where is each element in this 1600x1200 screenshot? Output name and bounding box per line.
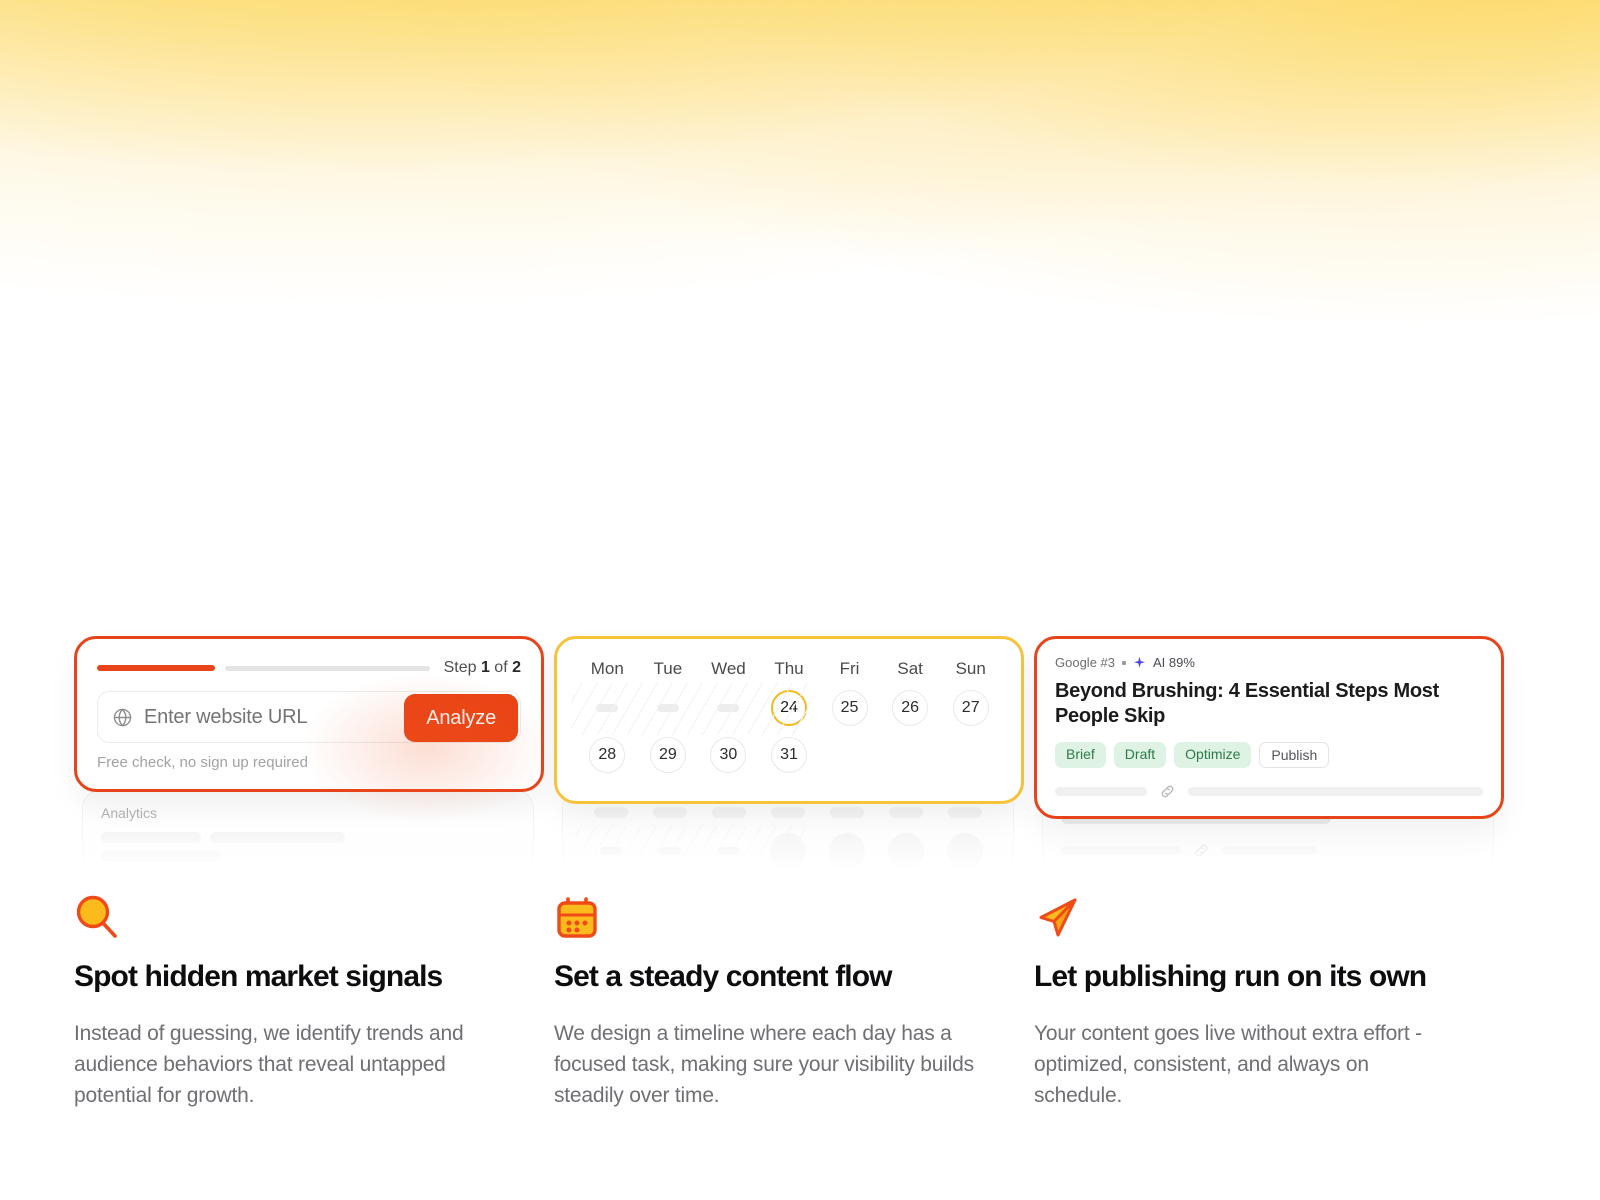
calendar-card: Mon Tue Wed Thu Fri Sat Sun 24 [554,636,1024,804]
headline-line-2: Ideas nto Impact [0,338,1600,445]
past-day-placeholder [717,704,739,712]
placeholder-pill [600,847,622,855]
link-icon [1159,783,1176,800]
placeholder-bar [889,807,923,818]
feature-title: Set a steady content flow [554,960,1024,994]
paper-plane-icon [1034,894,1080,940]
placeholder-bar [830,807,864,818]
weekday-label: Mon [591,659,624,679]
free-check-note: Free check, no sign up required [97,754,521,771]
calendar-day[interactable]: 30 [710,737,746,773]
calendar-day-today[interactable]: 24 [771,690,807,726]
brand-name: rank.ai [755,142,897,187]
progress-bar [97,665,430,671]
article-footer [1055,783,1483,800]
workflow-chips: Brief Draft Optimize Publish [1055,742,1483,768]
placeholder-circle [947,833,983,869]
placeholder-bar [1055,787,1147,796]
calendar-weekday-header: Mon Tue Wed Thu Fri Sat Sun [577,659,1001,679]
placeholder-bar [1061,846,1181,855]
placeholder-bar [210,832,345,843]
calendar-day[interactable]: 27 [953,690,989,726]
chip-optimize[interactable]: Optimize [1174,742,1251,768]
weekday-label: Sun [956,659,986,679]
search-input[interactable]: Enter website URL [144,706,307,729]
chip-draft[interactable]: Draft [1114,742,1166,768]
step-current: 1 [481,659,490,676]
past-day-placeholder [657,704,679,712]
feature-column-2: Mon Tue Wed Thu Fri Sat Sun 24 [554,636,1024,1111]
placeholder-bar [653,807,687,818]
card-stack-3: Google #3 AI 89% Beyond Brushing: 4 Esse… [1034,636,1504,876]
calendar-day[interactable]: 31 [771,737,807,773]
magnifier-icon [74,894,120,940]
sparkle-icon [1133,656,1146,669]
weekday-label: Fri [840,659,860,679]
headline-line-2-b: nto Impact [710,338,1220,445]
article-card: Google #3 AI 89% Beyond Brushing: 4 Esse… [1034,636,1504,819]
article-meta: Google #3 AI 89% [1055,655,1483,670]
feature-block-2: Set a steady content flow We design a ti… [554,876,1024,1111]
article-source: Google #3 [1055,655,1115,670]
placeholder-bar [101,851,221,862]
feature-title: Spot hidden market signals [74,960,544,994]
headline-line-2-a: Ideas [380,338,638,445]
placeholder-bar [1188,787,1483,796]
placeholder-pill [718,847,740,855]
placeholder-bar [1222,846,1317,855]
url-analyzer-card: Step 1 of 2 Enter website URL Analyze Fr… [74,636,544,792]
step-total: 2 [512,659,521,676]
analyze-button[interactable]: Analyze [404,694,518,742]
page-title: How We Turn Ideas nto Impact [0,231,1600,445]
calendar-day-empty [832,737,868,773]
headline-line-1-text: How We Turn [480,231,1120,338]
chip-brief[interactable]: Brief [1055,742,1106,768]
progress-row: Step 1 of 2 [97,659,521,677]
features-row: Analytics Step 1 of 2 [0,636,1600,1111]
bar-chart-glyph-icon [650,375,703,437]
calendar-week-1: 24 25 26 27 [577,689,1001,727]
feature-body: We design a timeline where each day has … [554,1018,974,1111]
subtitle-line-2: so your content works harder while you w… [488,523,1113,553]
calendar-day[interactable]: 25 [832,690,868,726]
placeholder-circle [770,833,806,869]
feature-body: Your content goes live without extra eff… [1034,1018,1454,1111]
step-indicator: Step 1 of 2 [444,659,521,677]
separator-dot-icon [1122,661,1126,665]
landing-page: rank.ai How We Turn Ideas nto Impact Fro… [0,0,1600,1200]
placeholder-bar [101,832,201,843]
calendar-day-empty [953,737,989,773]
rank-r-logo-icon [704,145,742,185]
headline-line-1: How We Turn [0,231,1600,338]
placeholder-bar [948,807,982,818]
placeholder-circle [829,833,865,869]
globe-icon [112,707,133,728]
step-prefix: Step [444,659,481,676]
past-day-placeholder [596,704,618,712]
calendar-icon [554,894,600,940]
placeholder-bar [712,807,746,818]
article-title: Beyond Brushing: 4 Essential Steps Most … [1055,679,1483,729]
brand-logo[interactable]: rank.ai [0,0,1600,187]
card-stack-1: Analytics Step 1 of 2 [74,636,544,876]
feature-block-3: Let publishing run on its own Your conte… [1034,876,1504,1111]
page-subtitle: From insights to execution, our system g… [0,480,1600,558]
subtitle-line-1: From insights to execution, our system g… [423,484,1177,514]
chip-publish[interactable]: Publish [1259,742,1329,768]
feature-body: Instead of guessing, we identify trends … [74,1018,494,1111]
feature-block-1: Spot hidden market signals Instead of gu… [74,876,544,1111]
placeholder-bar [594,807,628,818]
calendar-day[interactable]: 28 [589,737,625,773]
ghost-card-label: Analytics [101,805,515,821]
feature-column-3: Google #3 AI 89% Beyond Brushing: 4 Esse… [1034,636,1504,1111]
progress-track [225,666,430,671]
weekday-label: Sat [897,659,923,679]
link-icon [1193,842,1210,859]
ghost-card-analytics: Analytics [82,790,534,874]
weekday-label: Wed [711,659,746,679]
calendar-day[interactable]: 26 [892,690,928,726]
placeholder-pill [659,847,681,855]
calendar-week-2: 28 29 30 31 [577,736,1001,774]
placeholder-bar [771,807,805,818]
placeholder-circle [888,833,924,869]
calendar-day[interactable]: 29 [650,737,686,773]
weekday-label: Tue [654,659,683,679]
card-stack-2: Mon Tue Wed Thu Fri Sat Sun 24 [554,636,1024,876]
ai-score-label: AI 89% [1153,655,1195,670]
url-input-wrapper[interactable]: Enter website URL Analyze [97,691,521,743]
progress-fill [97,665,215,671]
step-mid: of [490,659,512,676]
feature-title: Let publishing run on its own [1034,960,1504,994]
weekday-label: Thu [774,659,803,679]
calendar-day-empty [892,737,928,773]
feature-column-1: Analytics Step 1 of 2 [74,636,544,1111]
